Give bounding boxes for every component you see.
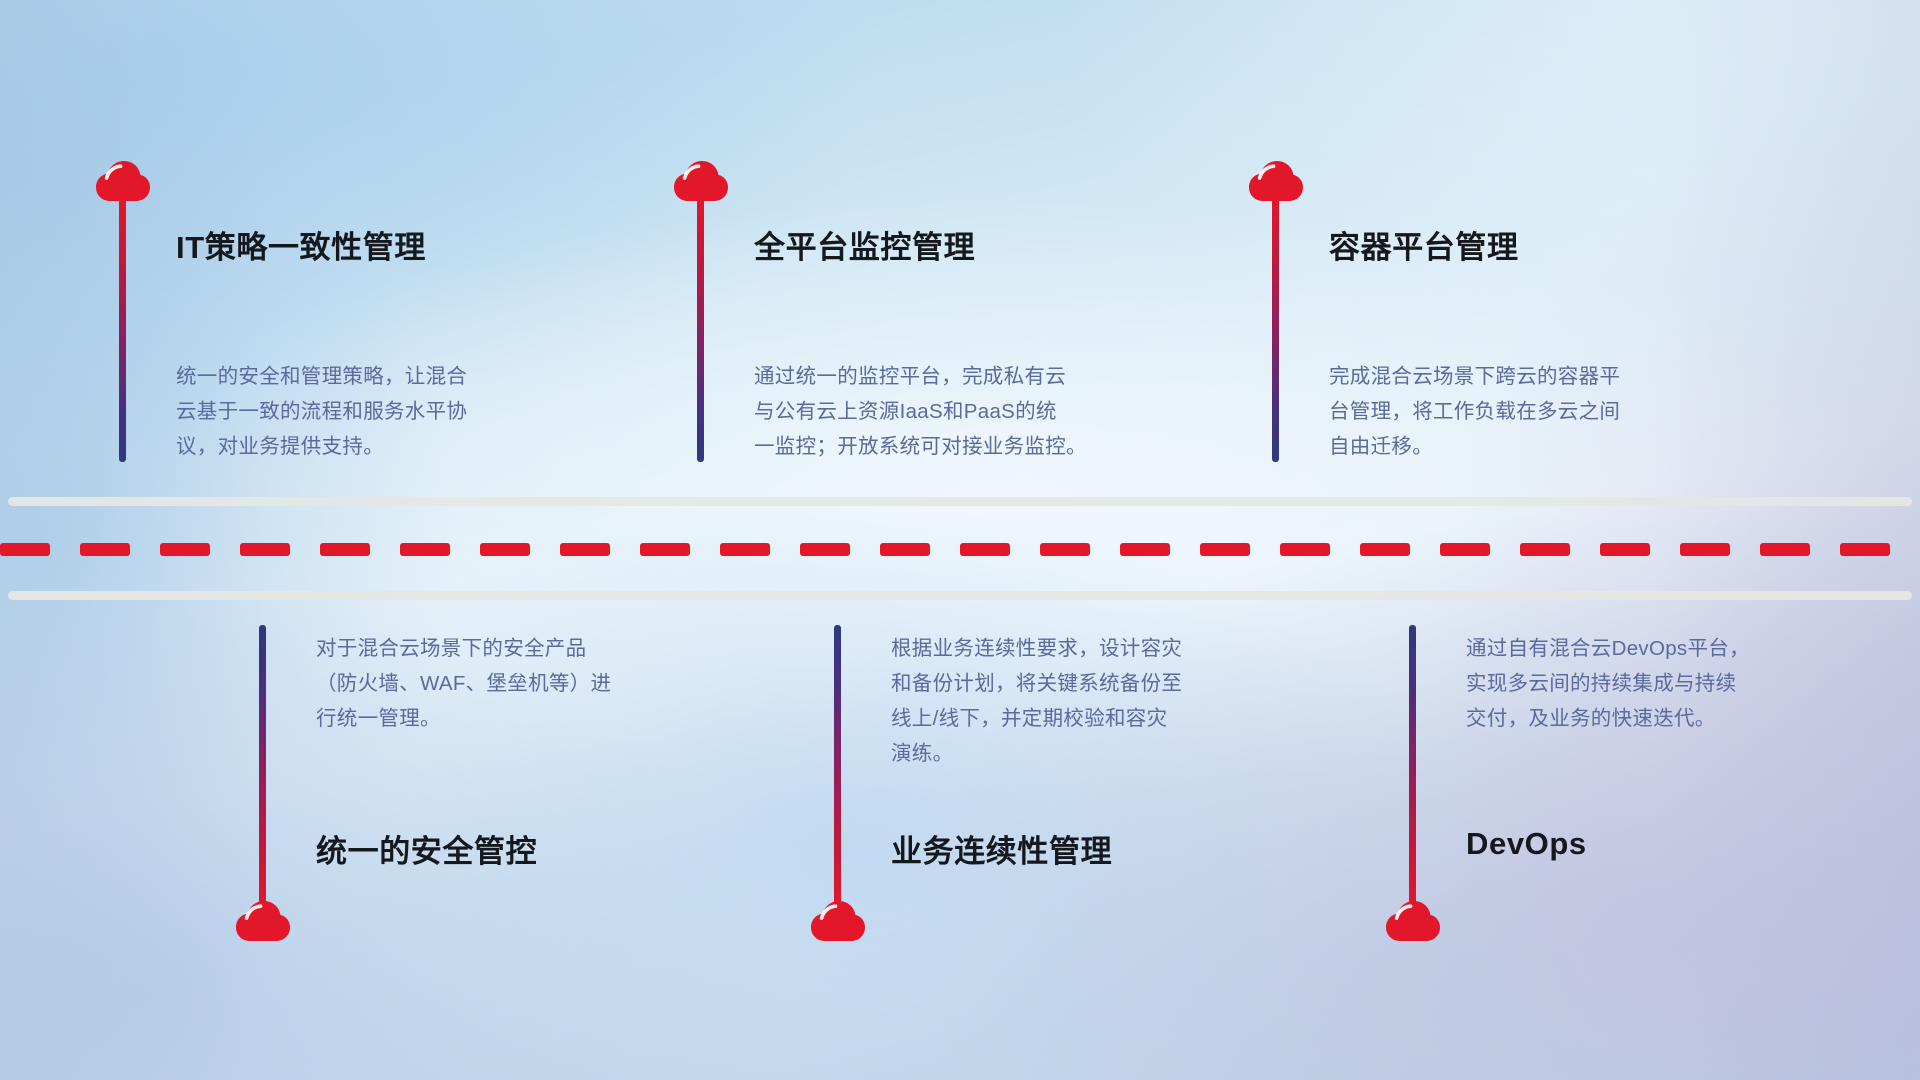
item-description: 通过自有混合云DevOps平台， 实现多云间的持续集成与持续 交付，及业务的快速… [1466,631,1750,736]
description-line: 自由迁移。 [1329,429,1620,464]
cloud-icon [1385,900,1441,942]
description-line: 行统一管理。 [316,701,611,736]
divider-dash-segment [1040,543,1090,556]
divider-dash-segment [640,543,690,556]
item-description: 完成混合云场景下跨云的容器平 台管理，将工作负载在多云之间 自由迁移。 [1329,359,1620,464]
item-heading: 业务连续性管理 [891,826,1112,871]
description-line: 通过自有混合云DevOps平台， [1466,631,1750,666]
connector-stem [1272,197,1279,462]
connector-stem [1409,625,1416,910]
description-line: 与公有云上资源IaaS和PaaS的统 [754,394,1087,429]
connector-stem [119,197,126,462]
description-line: 根据业务连续性要求，设计容灾 [891,631,1182,666]
divider-dash-segment [1280,543,1330,556]
divider-dashed-line [0,543,1920,556]
cloud-icon [1248,160,1304,202]
item-description: 根据业务连续性要求，设计容灾 和备份计划，将关键系统备份至 线上/线下，并定期校… [891,631,1182,771]
item-heading: 统一的安全管控 [316,826,537,871]
item-heading: 容器平台管理 [1329,222,1519,267]
divider-solid-line-bottom [8,591,1912,600]
connector-stem [834,625,841,910]
cloud-icon [673,160,729,202]
cloud-icon [95,160,151,202]
infographic-canvas: IT策略一致性管理 统一的安全和管理策略，让混合 云基于一致的流程和服务水平协 … [0,0,1920,1080]
divider-dash-segment [800,543,850,556]
item-description: 通过统一的监控平台，完成私有云 与公有云上资源IaaS和PaaS的统 一监控；开… [754,359,1087,464]
divider-dash-segment [560,543,610,556]
description-line: 交付，及业务的快速迭代。 [1466,701,1750,736]
divider-solid-line-top [8,497,1912,506]
connector-stem [259,625,266,910]
divider-dash-segment [1600,543,1650,556]
description-line: 通过统一的监控平台，完成私有云 [754,359,1087,394]
divider-dash-segment [1840,543,1890,556]
item-heading: 全平台监控管理 [754,222,975,267]
description-line: 线上/线下，并定期校验和容灾 [891,701,1182,736]
description-line: 实现多云间的持续集成与持续 [1466,666,1750,701]
divider-dash-segment [960,543,1010,556]
cloud-icon [235,900,291,942]
divider-dash-segment [80,543,130,556]
divider-dash-segment [480,543,530,556]
divider-dash-segment [880,543,930,556]
divider-dash-segment [1200,543,1250,556]
description-line: 统一的安全和管理策略，让混合 [176,359,467,394]
item-heading: DevOps [1466,826,1587,862]
divider-dash-segment [1440,543,1490,556]
description-line: （防火墙、WAF、堡垒机等）进 [316,666,611,701]
description-line: 演练。 [891,736,1182,771]
divider-dash-segment [320,543,370,556]
divider-dash-segment [1760,543,1810,556]
divider-dash-segment [1360,543,1410,556]
description-line: 议，对业务提供支持。 [176,429,467,464]
divider-dash-segment [400,543,450,556]
divider-dash-segment [1520,543,1570,556]
description-line: 一监控；开放系统可对接业务监控。 [754,429,1087,464]
description-line: 完成混合云场景下跨云的容器平 [1329,359,1620,394]
connector-stem [697,197,704,462]
cloud-icon [810,900,866,942]
description-line: 云基于一致的流程和服务水平协 [176,394,467,429]
divider-dash-segment [720,543,770,556]
description-line: 对于混合云场景下的安全产品 [316,631,611,666]
description-line: 和备份计划，将关键系统备份至 [891,666,1182,701]
item-description: 对于混合云场景下的安全产品 （防火墙、WAF、堡垒机等）进 行统一管理。 [316,631,611,736]
divider-dash-segment [0,543,50,556]
divider-dash-segment [1680,543,1730,556]
divider-dash-segment [160,543,210,556]
divider-dash-segment [240,543,290,556]
description-line: 台管理，将工作负载在多云之间 [1329,394,1620,429]
item-description: 统一的安全和管理策略，让混合 云基于一致的流程和服务水平协 议，对业务提供支持。 [176,359,467,464]
item-heading: IT策略一致性管理 [176,222,426,267]
divider-dash-segment [1120,543,1170,556]
